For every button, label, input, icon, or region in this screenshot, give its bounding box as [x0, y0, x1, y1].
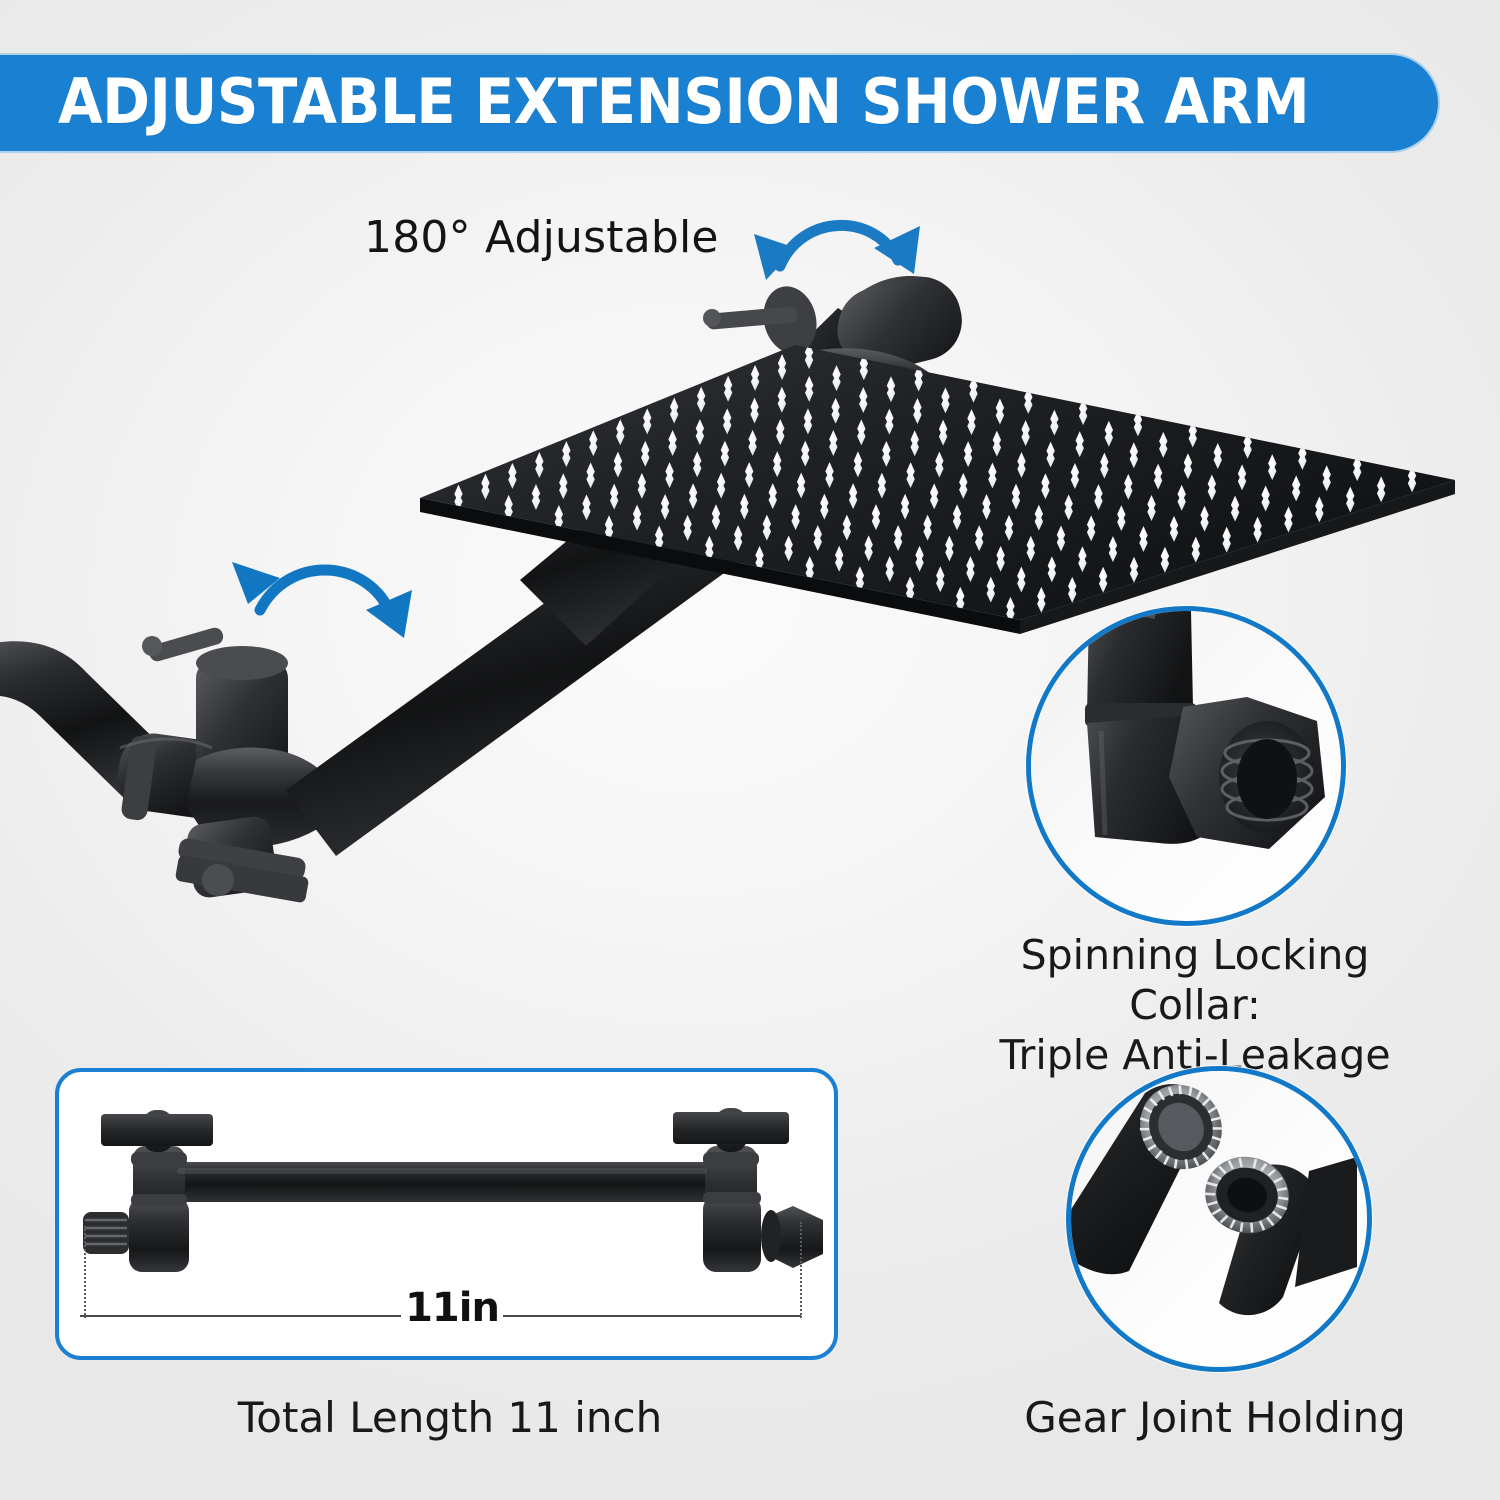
angle-callout-label: 180° Adjustable	[364, 212, 719, 263]
double-arrow-left-icon	[222, 542, 422, 646]
caption-total-length: Total Length 11 inch	[170, 1392, 730, 1443]
dimension-label: 11in	[401, 1285, 503, 1331]
inset-gear-joint	[1066, 1066, 1372, 1372]
dimension-rule-right	[503, 1315, 801, 1317]
dimension-box: 11in	[55, 1068, 838, 1360]
elbow-fitting-with-hex-nut-icon	[1031, 611, 1331, 911]
dimension-tick-right	[800, 1222, 802, 1318]
caption-gear-joint: Gear Joint Holding	[985, 1392, 1445, 1443]
dimension-rule-left	[80, 1315, 401, 1317]
infographic-page: ADJUSTABLE EXTENSION SHOWER ARM	[0, 0, 1500, 1500]
double-arrow-top-icon	[748, 192, 928, 288]
dimension-tick-left	[84, 1226, 86, 1318]
inset-spinning-locking-collar	[1026, 606, 1346, 926]
gear-joint-cylinders-icon	[1071, 1071, 1357, 1357]
caption-locking-collar: Spinning Locking Collar: Triple Anti-Lea…	[960, 930, 1430, 1080]
hero-product-illustration	[0, 0, 1500, 1060]
